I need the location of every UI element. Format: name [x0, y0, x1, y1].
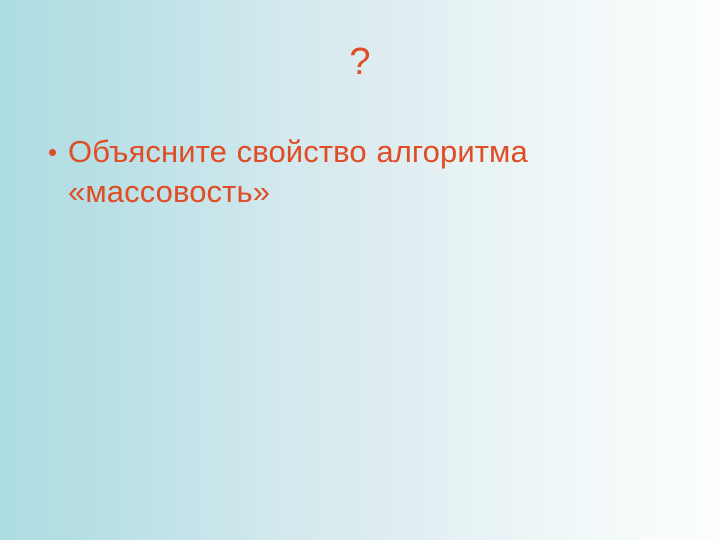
- slide-title: ?: [0, 40, 720, 84]
- slide-body: Объясните свойство алгоритма «массовость…: [44, 132, 604, 212]
- slide-canvas: ? Объясните свойство алгоритма «массовос…: [0, 0, 720, 540]
- list-item-label: Объясните свойство алгоритма «массовость…: [68, 132, 604, 212]
- bullet-dot-icon: [49, 149, 56, 156]
- page-title: ?: [349, 40, 370, 84]
- list-item: Объясните свойство алгоритма «массовость…: [44, 132, 604, 212]
